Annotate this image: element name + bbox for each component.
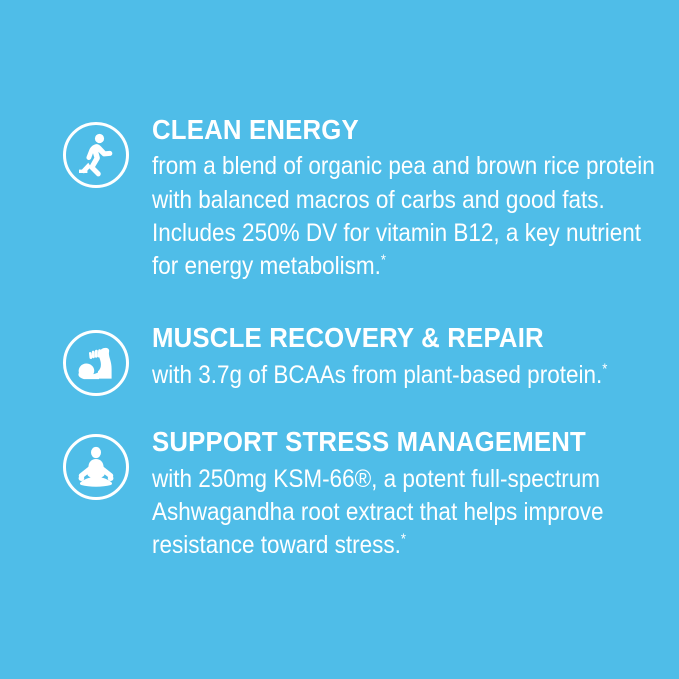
- benefit-description: with 3.7g of BCAAs from plant-based prot…: [152, 359, 629, 392]
- benefit-line-text: resistance toward stress.: [152, 531, 401, 559]
- benefit-line: Includes 250% DV for vitamin B12, a key …: [152, 217, 629, 250]
- running-person-icon: [62, 121, 130, 189]
- benefit-description: with 250mg KSM-66®, a potent full-spectr…: [152, 463, 629, 563]
- benefit-title: MUSCLE RECOVERY & REPAIR: [152, 323, 591, 352]
- benefit-line-text: for energy metabolism.: [152, 252, 381, 280]
- flexed-bicep-icon: [62, 329, 130, 397]
- footnote-asterisk: *: [381, 253, 386, 269]
- footnote-asterisk: *: [401, 532, 406, 548]
- benefit-line-text: with 3.7g of BCAAs from plant-based prot…: [152, 361, 602, 389]
- benefit-line: with 250mg KSM-66®, a potent full-spectr…: [152, 463, 629, 496]
- benefit-line: from a blend of organic pea and brown ri…: [152, 150, 629, 183]
- benefits-panel: CLEAN ENERGY from a blend of organic pea…: [0, 0, 679, 679]
- benefit-title: SUPPORT STRESS MANAGEMENT: [152, 427, 591, 456]
- benefit-line-last: resistance toward stress.*: [152, 529, 629, 562]
- footnote-asterisk: *: [602, 361, 607, 377]
- benefit-line: with balanced macros of carbs and good f…: [152, 184, 629, 217]
- benefit-line-last: with 3.7g of BCAAs from plant-based prot…: [152, 359, 629, 392]
- benefit-title: CLEAN ENERGY: [152, 115, 591, 144]
- meditating-person-icon: [62, 433, 130, 501]
- benefit-line-last: for energy metabolism.*: [152, 250, 629, 283]
- benefit-item-clean-energy: CLEAN ENERGY from a blend of organic pea…: [62, 113, 629, 283]
- benefit-body: SUPPORT STRESS MANAGEMENT with 250mg KSM…: [152, 425, 629, 562]
- benefit-item-muscle-recovery: MUSCLE RECOVERY & REPAIR with 3.7g of BC…: [62, 321, 629, 397]
- benefit-item-stress-management: SUPPORT STRESS MANAGEMENT with 250mg KSM…: [62, 425, 629, 562]
- benefit-body: MUSCLE RECOVERY & REPAIR with 3.7g of BC…: [152, 321, 629, 392]
- benefit-description: from a blend of organic pea and brown ri…: [152, 150, 629, 283]
- benefit-line: Ashwagandha root extract that helps impr…: [152, 496, 629, 529]
- benefit-body: CLEAN ENERGY from a blend of organic pea…: [152, 113, 629, 283]
